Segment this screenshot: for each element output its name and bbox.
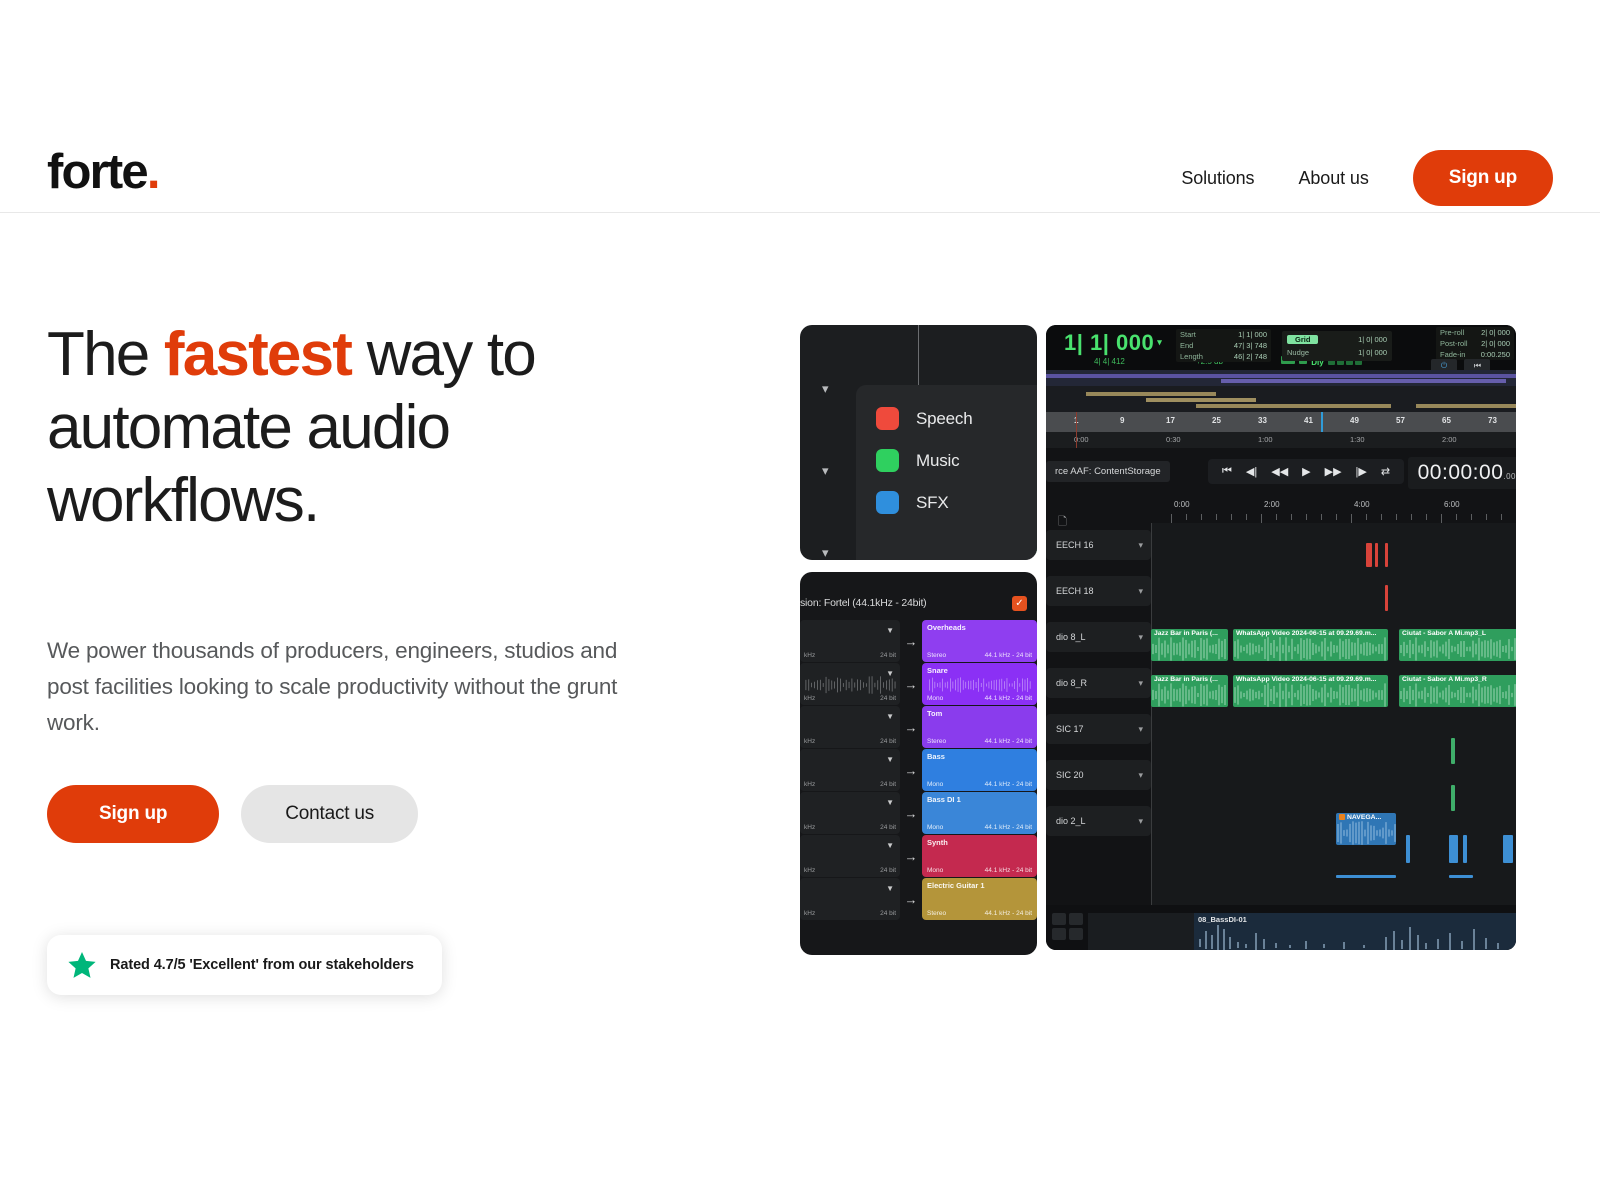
source-depth: 24 bit bbox=[880, 652, 896, 659]
ruler-tick bbox=[1276, 514, 1277, 520]
source-rate: kHz bbox=[804, 652, 815, 659]
hero-signup-button[interactable]: Sign up bbox=[47, 785, 219, 843]
panel-a-tracklist: ▾ ▾ ▾ bbox=[800, 353, 860, 560]
ruler-tick bbox=[1231, 514, 1232, 520]
return-to-start-icon[interactable]: ⏮ bbox=[1222, 465, 1232, 478]
arrow-right-icon: → bbox=[900, 706, 922, 748]
source-depth: 24 bit bbox=[880, 824, 896, 831]
chevron-down-icon[interactable]: ▾ bbox=[1138, 632, 1143, 643]
color-swatch-music bbox=[876, 449, 899, 472]
track-name: Snare bbox=[927, 666, 948, 675]
ruler-tick bbox=[1366, 514, 1367, 520]
track-header[interactable]: SIC 20 ▾ bbox=[1046, 760, 1151, 790]
arrow-right-icon: → bbox=[900, 663, 922, 705]
track-headers: EECH 16 ▾EECH 18 ▾dio 8_L ▾dio 8_R ▾SIC … bbox=[1046, 530, 1151, 852]
nudge-label[interactable]: Nudge bbox=[1287, 348, 1309, 357]
nav-item-solutions[interactable]: Solutions bbox=[1159, 168, 1276, 189]
track-name: EECH 18 bbox=[1056, 586, 1094, 596]
loop-icon[interactable]: ⇄ bbox=[1381, 465, 1390, 478]
target-track[interactable]: Overheads Stereo44.1 kHz - 24 bit bbox=[922, 620, 1037, 662]
color-swatch-speech bbox=[876, 407, 899, 430]
rating-label: Rated 4.7/5 'Excellent' from our stakeho… bbox=[110, 957, 414, 973]
ruler-tick bbox=[1486, 514, 1487, 520]
track-channels: Stereo bbox=[927, 910, 946, 917]
track-name: dio 2_L bbox=[1056, 816, 1086, 826]
arrow-right-icon: → bbox=[900, 878, 922, 920]
marker-blue[interactable] bbox=[1449, 835, 1458, 863]
ruler-tick bbox=[1186, 514, 1187, 520]
step-back-icon[interactable]: ◀| bbox=[1246, 465, 1257, 478]
grid-nudge-block: Grid 1| 0| 000 Nudge 1| 0| 000 bbox=[1282, 331, 1392, 361]
clip-label: Jazz Bar in Paris (... bbox=[1151, 629, 1228, 637]
chevron-down-icon[interactable]: ▾ bbox=[822, 381, 829, 397]
chevron-down-icon[interactable]: ▾ bbox=[1157, 337, 1162, 347]
ruler-tick bbox=[1321, 514, 1322, 520]
conversion-panel: sion: Fortel (44.1kHz - 24bit) ✓ ▼ kHz24… bbox=[800, 572, 1037, 955]
daw-source-bar: rce AAF: ContentStorage ⏮◀|◀◀▶▶▶|▶⇄ 00:0… bbox=[1046, 453, 1516, 495]
track-format: 44.1 kHz - 24 bit bbox=[985, 910, 1032, 917]
tool-button[interactable] bbox=[1052, 928, 1066, 940]
conversion-row[interactable]: ▼ kHz24 bit → Bass Mono44.1 kHz - 24 bit bbox=[800, 749, 1037, 791]
arrow-right-icon: → bbox=[900, 792, 922, 834]
track-name: Tom bbox=[927, 709, 942, 718]
track-format: 44.1 kHz - 24 bit bbox=[985, 781, 1032, 788]
hero-subtitle: We power thousands of producers, enginee… bbox=[47, 633, 627, 741]
headline-part-1: The bbox=[47, 320, 164, 389]
track-name: Synth bbox=[927, 838, 948, 847]
track-name: dio 8_L bbox=[1056, 632, 1086, 642]
timeline-lanes[interactable]: Jazz Bar in Paris (... WhatsApp Video 20… bbox=[1151, 523, 1516, 905]
step-forward-icon[interactable]: |▶ bbox=[1356, 465, 1367, 478]
bar-number: 41 bbox=[1304, 416, 1313, 425]
ruler-tick bbox=[1201, 514, 1202, 520]
source-rate: kHz bbox=[804, 867, 815, 874]
field-length: Length46| 2| 748 bbox=[1176, 351, 1271, 362]
chevron-down-icon[interactable]: ▾ bbox=[822, 545, 829, 560]
time-ruler[interactable]: 0:000:301:001:302:00 bbox=[1046, 432, 1516, 448]
ruler-tick bbox=[1216, 514, 1217, 520]
star-icon bbox=[67, 950, 97, 980]
source-file[interactable]: ▼ kHz24 bit bbox=[800, 792, 900, 834]
track-format: 44.1 kHz - 24 bit bbox=[985, 695, 1032, 702]
chevron-down-icon[interactable]: ▼ bbox=[886, 884, 894, 893]
chevron-down-icon[interactable]: ▼ bbox=[886, 626, 894, 635]
fast-forward-icon[interactable]: ▶▶ bbox=[1325, 465, 1342, 478]
waveform-icon bbox=[1151, 637, 1228, 661]
marker-green[interactable] bbox=[1451, 738, 1455, 764]
edit-cursor bbox=[1076, 412, 1077, 448]
target-track[interactable]: Synth Mono44.1 kHz - 24 bit bbox=[922, 835, 1037, 877]
target-track[interactable]: Electric Guitar 1 Stereo44.1 kHz - 24 bi… bbox=[922, 878, 1037, 920]
chevron-down-icon[interactable]: ▾ bbox=[1138, 678, 1143, 689]
dropdown-item-sfx[interactable]: SFX bbox=[876, 491, 1037, 514]
dropdown-item-speech[interactable]: Speech bbox=[876, 407, 1037, 430]
track-channels: Mono bbox=[927, 867, 943, 874]
marker-blue[interactable] bbox=[1503, 835, 1513, 863]
audio-clip[interactable]: Ciutat - Sabor A Mi.mp3_R bbox=[1399, 675, 1516, 707]
editor-clip-label: 08_BassDI-01 bbox=[1198, 915, 1247, 924]
chevron-down-icon[interactable]: ▼ bbox=[886, 755, 894, 764]
ruler-tick bbox=[1501, 514, 1502, 520]
ruler-tick bbox=[1426, 514, 1427, 520]
time-label: 1:30 bbox=[1350, 435, 1365, 444]
timeline-time-label: 2:00 bbox=[1264, 500, 1280, 509]
grid-label[interactable]: Grid bbox=[1287, 335, 1318, 344]
selection-fields: Start1| 1| 000 End47| 3| 748 Length46| 2… bbox=[1176, 329, 1271, 362]
waveform-icon bbox=[804, 676, 896, 694]
source-file[interactable]: ▼ kHz24 bit bbox=[800, 835, 900, 877]
track-header[interactable]: dio 8_L ▾ bbox=[1046, 622, 1151, 652]
bar-number: 33 bbox=[1258, 416, 1267, 425]
field-end: End47| 3| 748 bbox=[1176, 340, 1271, 351]
playhead[interactable] bbox=[1321, 412, 1323, 432]
daw-waveform-editor: 08_BassDI-01 bbox=[1046, 905, 1516, 950]
track-name: Overheads bbox=[927, 623, 966, 632]
track-name: SIC 20 bbox=[1056, 770, 1084, 780]
track-channels: Mono bbox=[927, 695, 943, 702]
chevron-down-icon[interactable]: ▼ bbox=[886, 798, 894, 807]
daw-panel: 1| 1| 000▾ 4| 4| 412 +2.5 db Dly Start1|… bbox=[1046, 325, 1516, 950]
track-format: 44.1 kHz - 24 bit bbox=[985, 867, 1032, 874]
track-channels: Mono bbox=[927, 781, 943, 788]
marker-blue[interactable] bbox=[1406, 835, 1410, 863]
clip-label: WhatsApp Video 2024-06-15 at 09.29.69.m.… bbox=[1233, 675, 1388, 683]
track-header[interactable]: dio 2_L ▾ bbox=[1046, 806, 1151, 836]
track-format: 44.1 kHz - 24 bit bbox=[985, 824, 1032, 831]
chevron-down-icon[interactable]: ▾ bbox=[822, 463, 829, 479]
marker-green[interactable] bbox=[1451, 785, 1455, 811]
track-name: Bass DI 1 bbox=[927, 795, 961, 804]
track-header[interactable]: EECH 18 ▾ bbox=[1046, 576, 1151, 606]
rating-badge: Rated 4.7/5 'Excellent' from our stakeho… bbox=[47, 935, 442, 995]
audio-clip[interactable]: Ciutat - Sabor A Mi.mp3_L bbox=[1399, 629, 1516, 661]
ruler-tick bbox=[1456, 514, 1457, 520]
bar-number: 17 bbox=[1166, 416, 1175, 425]
audio-clip[interactable]: NAVEGA... bbox=[1336, 813, 1396, 845]
waveform-icon bbox=[1336, 821, 1396, 845]
track-header[interactable]: SIC 17 ▾ bbox=[1046, 714, 1151, 744]
page-title: The fastest way to automate audio workfl… bbox=[47, 318, 687, 537]
track-name: dio 8_R bbox=[1056, 678, 1087, 688]
logo-text: forte bbox=[47, 145, 147, 199]
tool-button[interactable] bbox=[1069, 928, 1083, 940]
chevron-down-icon[interactable]: ▼ bbox=[886, 712, 894, 721]
clip-label: WhatsApp Video 2024-06-15 at 09.29.69.m.… bbox=[1233, 629, 1388, 637]
bar-number: 57 bbox=[1396, 416, 1405, 425]
source-depth: 24 bit bbox=[880, 781, 896, 788]
source-file[interactable]: ▼ kHz24 bit bbox=[800, 749, 900, 791]
conversion-row[interactable]: ▼ kHz24 bit → Snare Mono44.1 kHz - 24 bi… bbox=[800, 663, 1037, 705]
arrow-right-icon: → bbox=[900, 620, 922, 662]
main-counter[interactable]: 1| 1| 000▾ bbox=[1064, 330, 1162, 356]
audio-clip[interactable]: Jazz Bar in Paris (... bbox=[1151, 629, 1228, 661]
marker-blue bbox=[1449, 875, 1473, 878]
dropdown-item-label: Speech bbox=[916, 409, 972, 429]
ruler-tick bbox=[1306, 514, 1307, 520]
field-pre-roll: Pre-roll2| 0| 000 bbox=[1436, 327, 1514, 338]
source-file[interactable]: ▼ kHz24 bit bbox=[800, 878, 900, 920]
timeline-time-label: 6:00 bbox=[1444, 500, 1460, 509]
conversion-row[interactable]: ▼ kHz24 bit → Synth Mono44.1 kHz - 24 bi… bbox=[800, 835, 1037, 877]
timeline-time-label: 4:00 bbox=[1354, 500, 1370, 509]
arrow-right-icon: → bbox=[900, 749, 922, 791]
bar-number: 25 bbox=[1212, 416, 1221, 425]
marker-red[interactable] bbox=[1385, 585, 1388, 611]
chevron-down-icon[interactable]: ▾ bbox=[1138, 540, 1143, 551]
color-swatch-sfx bbox=[876, 491, 899, 514]
waveform-icon bbox=[928, 677, 1031, 693]
overview-lane-gold bbox=[1046, 386, 1516, 412]
conversion-panel-header: sion: Fortel (44.1kHz - 24bit) ✓ bbox=[800, 592, 1037, 614]
source-depth: 24 bit bbox=[880, 867, 896, 874]
marker-red[interactable] bbox=[1366, 543, 1372, 567]
waveform-icon bbox=[1233, 637, 1388, 661]
source-depth: 24 bit bbox=[880, 910, 896, 917]
clip-label: NAVEGA... bbox=[1336, 813, 1396, 821]
bar-ruler[interactable]: 191725334149576573 bbox=[1046, 412, 1516, 432]
conversion-row[interactable]: ▼ kHz24 bit → Overheads Stereo44.1 kHz -… bbox=[800, 620, 1037, 662]
logo-dot: . bbox=[147, 145, 159, 199]
track-channels: Stereo bbox=[927, 738, 946, 745]
marker-red[interactable] bbox=[1385, 543, 1388, 567]
ruler-tick bbox=[1396, 514, 1397, 520]
site-header: forte. Solutions About us Sign up bbox=[0, 0, 1600, 213]
editor-tool-buttons[interactable] bbox=[1052, 913, 1083, 940]
timeline-time-label: 0:00 bbox=[1174, 500, 1190, 509]
track-name: EECH 16 bbox=[1056, 540, 1094, 550]
tool-button[interactable] bbox=[1052, 913, 1066, 925]
conversion-row[interactable]: ▼ kHz24 bit → Bass DI 1 Mono44.1 kHz - 2… bbox=[800, 792, 1037, 834]
header-signup-button[interactable]: Sign up bbox=[1413, 150, 1553, 206]
source-depth: 24 bit bbox=[880, 695, 896, 702]
target-track[interactable]: Bass DI 1 Mono44.1 kHz - 24 bit bbox=[922, 792, 1037, 834]
nudge-value: 1| 0| 000 bbox=[1358, 348, 1387, 357]
nav-item-about-us[interactable]: About us bbox=[1276, 168, 1390, 189]
headline-highlight: fastest bbox=[164, 320, 351, 389]
track-format: 44.1 kHz - 24 bit bbox=[985, 652, 1032, 659]
chevron-down-icon[interactable]: ▾ bbox=[1138, 770, 1143, 781]
rewind-icon[interactable]: ◀◀ bbox=[1271, 465, 1288, 478]
timecode-display: 00:00:00.00 bbox=[1408, 457, 1516, 489]
ruler-tick bbox=[1246, 514, 1247, 520]
source-file[interactable]: ▼ kHz24 bit bbox=[800, 706, 900, 748]
bar-number: 9 bbox=[1120, 416, 1124, 425]
dropdown-item-label: Music bbox=[916, 451, 959, 471]
chevron-down-icon[interactable]: ▾ bbox=[1138, 586, 1143, 597]
audio-clip[interactable]: Jazz Bar in Paris (... bbox=[1151, 675, 1228, 707]
conversion-row[interactable]: ▼ kHz24 bit → Electric Guitar 1 Stereo44… bbox=[800, 878, 1037, 920]
track-name: Bass bbox=[927, 752, 945, 761]
ruler-tick bbox=[1381, 514, 1382, 520]
track-format: 44.1 kHz - 24 bit bbox=[985, 738, 1032, 745]
chevron-down-icon[interactable]: ▾ bbox=[1138, 816, 1143, 827]
field-post-roll: Post-roll2| 0| 000 bbox=[1436, 338, 1514, 349]
tool-button[interactable] bbox=[1069, 913, 1083, 925]
dropdown-item-music[interactable]: Music bbox=[876, 449, 1037, 472]
bar-number: 73 bbox=[1488, 416, 1497, 425]
source-rate: kHz bbox=[804, 695, 815, 702]
arrow-right-icon: → bbox=[900, 835, 922, 877]
clip-label: Jazz Bar in Paris (... bbox=[1151, 675, 1228, 683]
overview-lane-purple bbox=[1046, 370, 1516, 386]
marker-red[interactable] bbox=[1375, 543, 1378, 567]
marker-blue[interactable] bbox=[1463, 835, 1467, 863]
secondary-counter: 4| 4| 412 bbox=[1094, 357, 1125, 366]
ruler-tick bbox=[1411, 514, 1412, 520]
waveform-icon bbox=[1399, 637, 1516, 661]
bar-number: 49 bbox=[1350, 416, 1359, 425]
chevron-down-icon[interactable]: ▾ bbox=[1138, 724, 1143, 735]
source-rate: kHz bbox=[804, 738, 815, 745]
track-name: SIC 17 bbox=[1056, 724, 1084, 734]
lane-start-guide bbox=[1151, 523, 1152, 905]
source-file[interactable]: ▼ kHz24 bit bbox=[800, 663, 900, 705]
source-file[interactable]: ▼ kHz24 bit bbox=[800, 620, 900, 662]
source-label: rce AAF: ContentStorage bbox=[1046, 461, 1170, 482]
time-label: 2:00 bbox=[1442, 435, 1457, 444]
track-channels: Stereo bbox=[927, 652, 946, 659]
hero-cta-row: Sign up Contact us bbox=[47, 785, 687, 843]
source-rate: kHz bbox=[804, 781, 815, 788]
dropdown-item-label: SFX bbox=[916, 493, 948, 513]
time-label: 1:00 bbox=[1258, 435, 1273, 444]
hero-contact-button[interactable]: Contact us bbox=[241, 785, 418, 843]
waveform-icon bbox=[1399, 683, 1516, 707]
bar-number: 65 bbox=[1442, 416, 1451, 425]
field-start: Start1| 1| 000 bbox=[1176, 329, 1271, 340]
daw-transport-strip: 1| 1| 000▾ 4| 4| 412 +2.5 db Dly Start1|… bbox=[1046, 325, 1516, 370]
clip-label: Ciutat - Sabor A Mi.mp3_L bbox=[1399, 629, 1516, 637]
conversion-row[interactable]: ▼ kHz24 bit → Tom Stereo44.1 kHz - 24 bi… bbox=[800, 706, 1037, 748]
transport-controls: ⏮◀|◀◀▶▶▶|▶⇄ bbox=[1208, 459, 1404, 484]
waveform-icon bbox=[1151, 683, 1228, 707]
target-track[interactable]: Snare Mono44.1 kHz - 24 bit bbox=[922, 663, 1037, 705]
play-icon[interactable]: ▶ bbox=[1302, 465, 1310, 478]
primary-nav: Solutions About us Sign up bbox=[1159, 150, 1553, 206]
source-rate: kHz bbox=[804, 824, 815, 831]
conversion-row-list: ▼ kHz24 bit → Overheads Stereo44.1 kHz -… bbox=[800, 620, 1037, 921]
clip-label: Ciutat - Sabor A Mi.mp3_R bbox=[1399, 675, 1516, 683]
target-track[interactable]: Tom Stereo44.1 kHz - 24 bit bbox=[922, 706, 1037, 748]
track-name: Electric Guitar 1 bbox=[927, 881, 985, 890]
category-dropdown-panel: ▾ ▾ ▾ ris (... ris (... bbox=[800, 325, 1037, 560]
file-icon bbox=[1339, 814, 1345, 820]
source-depth: 24 bit bbox=[880, 738, 896, 745]
confirm-checkbox[interactable]: ✓ bbox=[1012, 596, 1027, 611]
chevron-down-icon[interactable]: ▼ bbox=[886, 841, 894, 850]
target-track[interactable]: Bass Mono44.1 kHz - 24 bit bbox=[922, 749, 1037, 791]
category-dropdown-menu: Speech Music SFX bbox=[856, 385, 1037, 560]
audio-clip[interactable]: WhatsApp Video 2024-06-15 at 09.29.69.m.… bbox=[1233, 675, 1388, 707]
ruler-tick bbox=[1336, 514, 1337, 520]
audio-clip[interactable]: WhatsApp Video 2024-06-15 at 09.29.69.m.… bbox=[1233, 629, 1388, 661]
waveform-icon bbox=[1233, 683, 1388, 707]
source-rate: kHz bbox=[804, 910, 815, 917]
grid-value: 1| 0| 000 bbox=[1358, 335, 1387, 344]
marker-blue bbox=[1336, 875, 1396, 878]
logo[interactable]: forte. bbox=[47, 148, 159, 197]
track-header[interactable]: dio 8_R ▾ bbox=[1046, 668, 1151, 698]
track-header[interactable]: EECH 16 ▾ bbox=[1046, 530, 1151, 560]
track-channels: Mono bbox=[927, 824, 943, 831]
product-showcase: ▾ ▾ ▾ ris (... ris (... bbox=[800, 325, 1516, 955]
conversion-preset-label[interactable]: sion: Fortel (44.1kHz - 24bit) bbox=[800, 597, 926, 609]
hero-content: The fastest way to automate audio workfl… bbox=[47, 318, 687, 995]
time-label: 0:30 bbox=[1166, 435, 1181, 444]
ruler-tick bbox=[1471, 514, 1472, 520]
ruler-tick bbox=[1291, 514, 1292, 520]
